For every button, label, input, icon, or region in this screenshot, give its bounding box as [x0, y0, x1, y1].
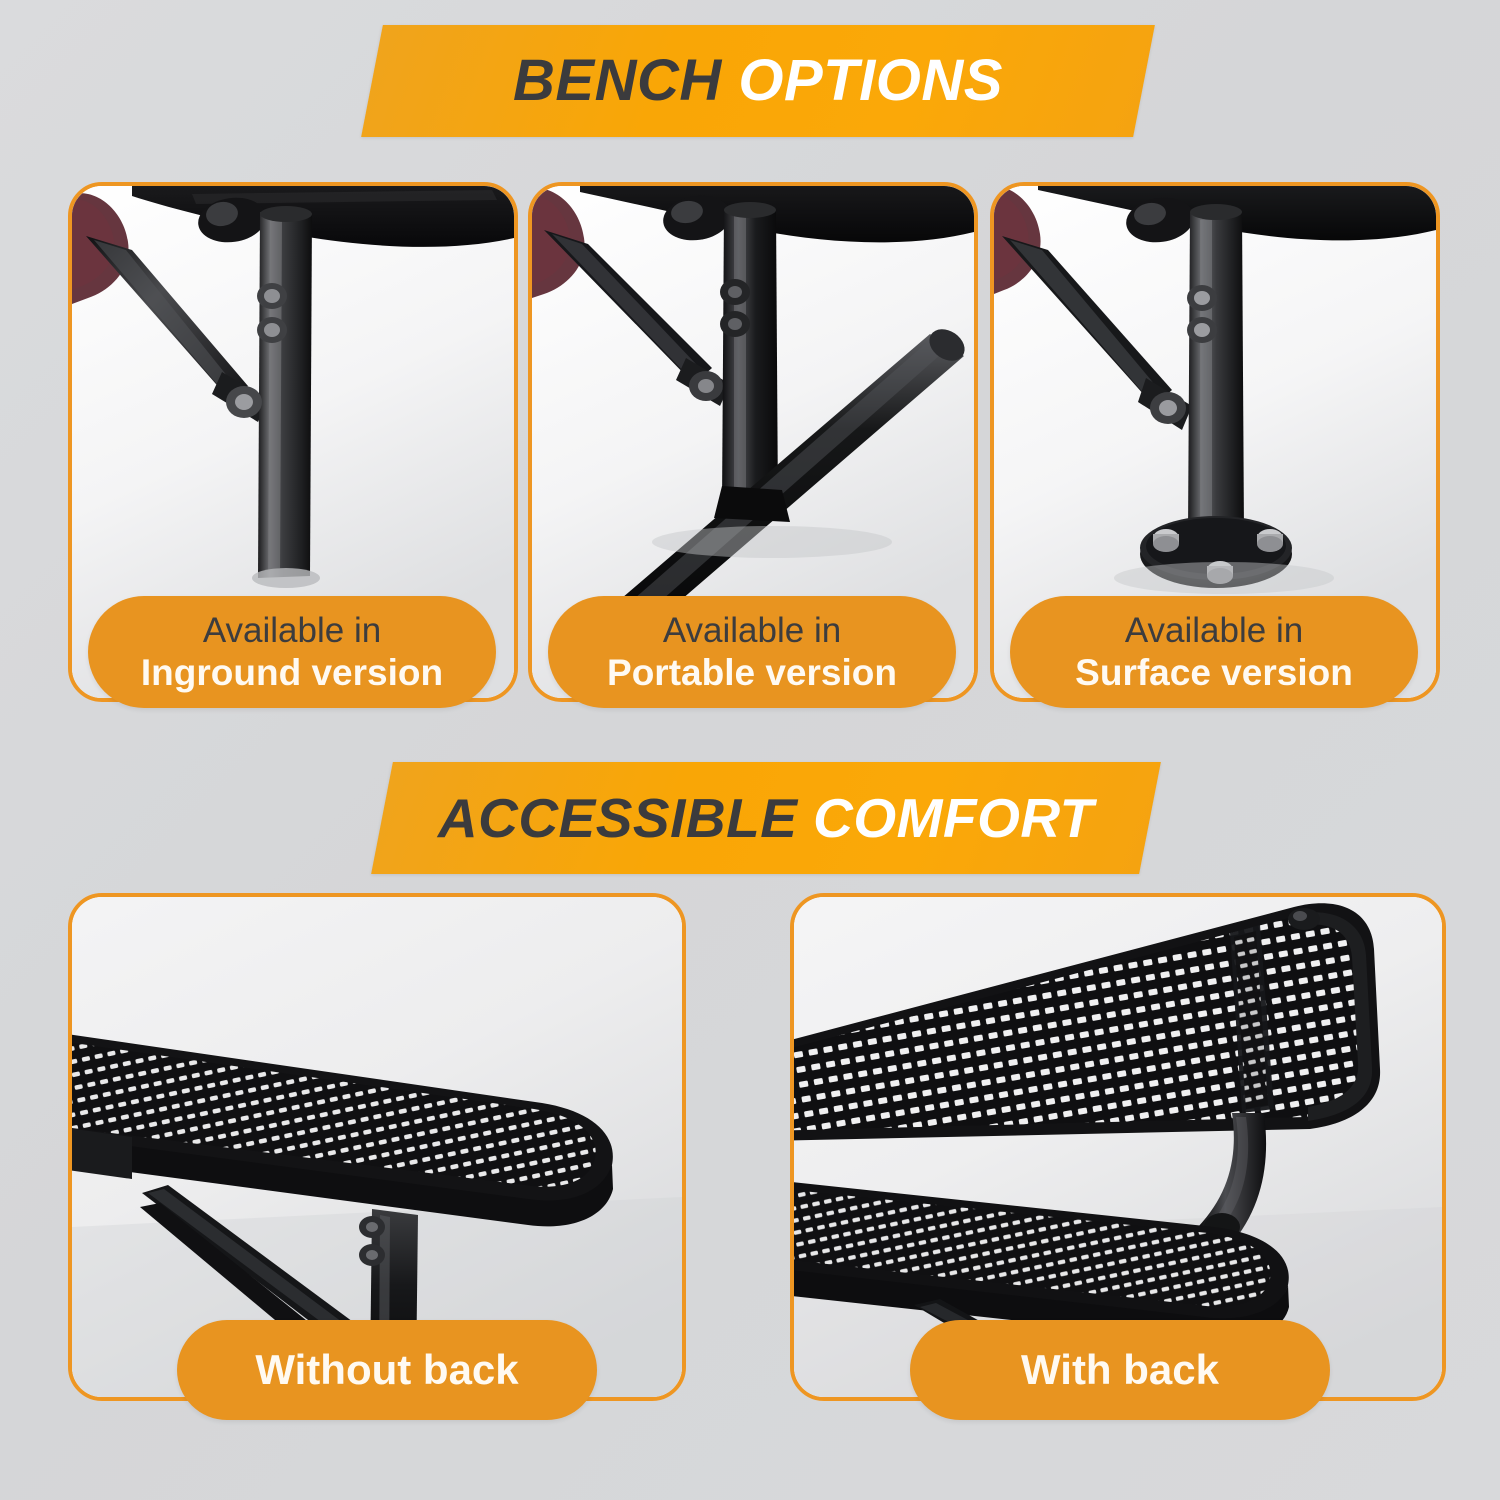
caption-pill-with-back: With back [910, 1320, 1330, 1420]
caption-line-available-in: Available in [663, 610, 841, 651]
caption-pill-without-back: Without back [177, 1320, 597, 1420]
caption-line-available-in: Available in [1125, 610, 1303, 651]
caption-line-surface-version: Surface version [1075, 651, 1353, 695]
banner-light-word-comfort: COMFORT [813, 787, 1094, 849]
banner-dark-word-bench: BENCH [513, 48, 722, 113]
caption-text-with-back: With back [1021, 1346, 1219, 1394]
caption-line-inground-version: Inground version [141, 651, 443, 695]
caption-line-available-in: Available in [203, 610, 381, 651]
banner-dark-word-accessible: ACCESSIBLE [438, 787, 798, 849]
caption-pill-portable: Available in Portable version [548, 596, 956, 708]
banner-light-word-options: OPTIONS [738, 48, 1003, 113]
caption-pill-surface: Available in Surface version [1010, 596, 1418, 708]
caption-line-portable-version: Portable version [607, 651, 897, 695]
section-banner-accessible-comfort: ACCESSIBLE COMFORT [371, 762, 1161, 874]
caption-text-without-back: Without back [255, 1346, 518, 1394]
banner-text-accessible-comfort: ACCESSIBLE COMFORT [438, 791, 1094, 846]
caption-pill-inground: Available in Inground version [88, 596, 496, 708]
section-banner-bench-options: BENCH OPTIONS [361, 25, 1155, 137]
banner-text-bench-options: BENCH OPTIONS [513, 52, 1003, 110]
infographic-page: BENCH OPTIONS [0, 0, 1500, 1500]
